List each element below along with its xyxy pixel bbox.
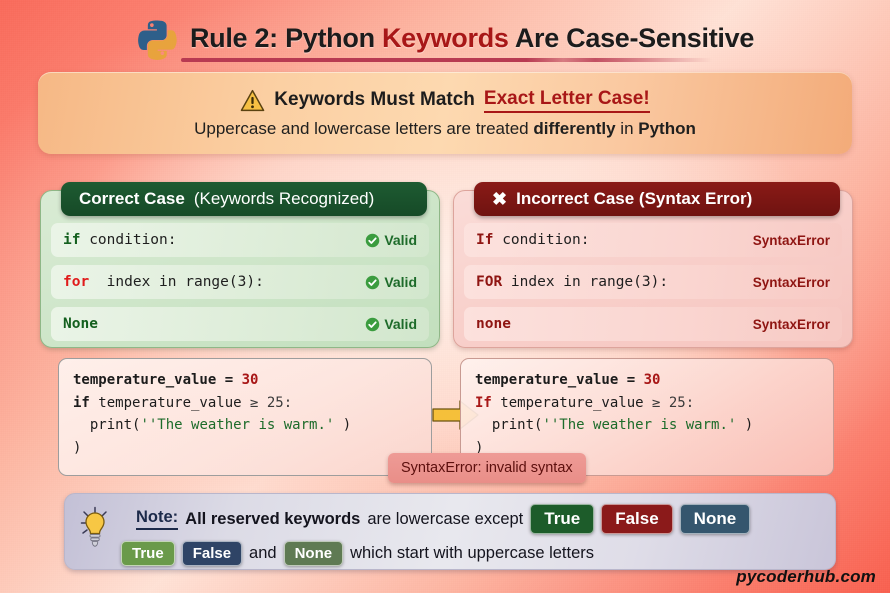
banner-line2-b: differently: [533, 119, 615, 138]
note-line-1: Note: All reserved keywords are lowercas…: [136, 501, 823, 537]
code-line: If temperature_value ≥ 25:: [475, 392, 819, 415]
watermark: pycoderhub.com: [736, 567, 876, 587]
banner-line2-a: Uppercase and lowercase letters are trea…: [194, 119, 533, 138]
keyword-token: FOR: [476, 274, 502, 290]
incorrect-case-panel: ✖ Incorrect Case (Syntax Error) If condi…: [453, 190, 853, 348]
code-paren: ): [736, 417, 753, 433]
status-badge: Valid: [365, 316, 417, 332]
incorrect-case-header: ✖ Incorrect Case (Syntax Error): [474, 182, 840, 216]
table-row: FOR index in range(3): SyntaxError: [464, 265, 842, 299]
status-badge: SyntaxError: [753, 233, 830, 248]
code-paren: ): [334, 417, 351, 433]
title-prefix: Rule 2:: [190, 23, 285, 53]
keyword-token: If: [476, 232, 493, 248]
keyword-token: if: [63, 232, 80, 248]
status-label: Valid: [384, 232, 417, 248]
status-label: SyntaxError: [753, 275, 830, 290]
check-circle-icon: [365, 317, 380, 332]
badge-none-top[interactable]: None: [680, 504, 751, 534]
code-snippet: None: [63, 316, 98, 332]
code-assign: temperature_value =: [475, 372, 644, 388]
banner-line-2: Uppercase and lowercase letters are trea…: [194, 119, 696, 139]
correct-rows: if condition: Valid for index in range(3…: [51, 223, 429, 341]
code-rest: condition:: [493, 232, 589, 248]
infographic-page: Rule 2: Python Keywords Are Case-Sensiti…: [0, 0, 890, 593]
code-rest: index in range(3):: [502, 274, 668, 290]
code-string: ''The weather is warm.': [542, 417, 736, 433]
incorrect-rows: If condition: SyntaxError FOR index in r…: [464, 223, 842, 341]
code-string: ''The weather is warm.': [140, 417, 334, 433]
badge-true-top[interactable]: True: [530, 504, 594, 534]
note-panel: Note: All reserved keywords are lowercas…: [64, 493, 836, 570]
warning-triangle-icon: [240, 89, 265, 112]
x-mark-icon: ✖: [492, 190, 507, 208]
status-badge: Valid: [365, 232, 417, 248]
note-text-1: are lowercase except: [367, 510, 523, 529]
status-badge: SyntaxError: [753, 275, 830, 290]
banner-line2-d: Python: [638, 119, 696, 138]
status-label: SyntaxError: [753, 317, 830, 332]
status-label: SyntaxError: [753, 233, 830, 248]
code-line: temperature_value = 30: [73, 369, 417, 392]
banner-line1-plain: Keywords Must Match: [274, 89, 475, 111]
keyword-token: If: [475, 395, 492, 411]
code-snippet: for index in range(3):: [63, 274, 264, 290]
status-label: Valid: [384, 316, 417, 332]
keyword-token: None: [63, 316, 98, 332]
keyword-token: if: [73, 395, 90, 411]
code-snippet: if condition:: [63, 232, 177, 248]
status-badge: SyntaxError: [753, 317, 830, 332]
code-line: print(''The weather is warm.' ): [475, 414, 819, 437]
correct-header-strong: Correct Case: [79, 189, 185, 209]
table-row: none SyntaxError: [464, 307, 842, 341]
title-keyword: Keywords: [382, 23, 509, 53]
title-text: Rule 2: Python Keywords Are Case-Sensiti…: [190, 23, 754, 54]
code-line: ): [73, 437, 417, 460]
note-line-2: True False and None which start with upp…: [121, 537, 823, 569]
keyword-token: none: [476, 316, 511, 332]
note-text-2: which start with uppercase letters: [350, 544, 594, 563]
code-rest: condition:: [80, 232, 176, 248]
badge-false-bottom[interactable]: False: [182, 541, 242, 566]
status-label: Valid: [384, 274, 417, 290]
code-compare: ≥ 25:: [652, 395, 694, 411]
code-rest: index in range(3):: [89, 274, 264, 290]
code-line: if temperature_value ≥ 25:: [73, 392, 417, 415]
code-assign: temperature_value =: [73, 372, 242, 388]
code-snippet: none: [476, 316, 511, 332]
code-line: print(''The weather is warm.' ): [73, 414, 417, 437]
banner-line1-accent: Exact Letter Case!: [484, 88, 650, 113]
page-title: Rule 2: Python Keywords Are Case-Sensiti…: [0, 16, 890, 60]
incorrect-header-text: Incorrect Case (Syntax Error): [516, 189, 752, 209]
table-row: if condition: Valid: [51, 223, 429, 257]
banner-line-1: Keywords Must Match Exact Letter Case!: [240, 88, 649, 113]
correct-case-header: Correct Case (Keywords Recognized): [61, 182, 427, 216]
title-underline: [181, 58, 712, 62]
code-line: temperature_value = 30: [475, 369, 819, 392]
code-var: temperature_value: [492, 395, 652, 411]
badge-false-top[interactable]: False: [601, 504, 672, 534]
syntax-error-tooltip: SyntaxError: invalid syntax: [388, 453, 586, 483]
code-snippet: FOR index in range(3):: [476, 274, 668, 290]
check-circle-icon: [365, 233, 380, 248]
note-label: Note:: [136, 508, 178, 530]
table-row: None Valid: [51, 307, 429, 341]
status-badge: Valid: [365, 274, 417, 290]
lightbulb-icon: [79, 506, 111, 550]
keyword-token: for: [63, 274, 89, 290]
note-and-word: and: [249, 544, 277, 563]
check-circle-icon: [365, 275, 380, 290]
code-block-correct: temperature_value = 30if temperature_val…: [58, 358, 432, 476]
correct-case-panel: Correct Case (Keywords Recognized) if co…: [40, 190, 440, 348]
table-row: for index in range(3): Valid: [51, 265, 429, 299]
code-snippet: If condition:: [476, 232, 590, 248]
table-row: If condition: SyntaxError: [464, 223, 842, 257]
code-print: print(: [73, 417, 140, 433]
python-logo-icon: [136, 18, 178, 60]
correct-header-light: (Keywords Recognized): [194, 189, 374, 209]
code-number: 30: [644, 372, 661, 388]
title-suffix: Are Case-Sensitive: [509, 23, 754, 53]
note-strong: All reserved keywords: [185, 510, 360, 529]
badge-none-bottom[interactable]: None: [284, 541, 344, 566]
badge-true-bottom[interactable]: True: [121, 541, 175, 566]
banner-line2-c: in: [616, 119, 639, 138]
code-compare: ≥ 25:: [250, 395, 292, 411]
title-mid: Python: [285, 23, 382, 53]
callout-banner: Keywords Must Match Exact Letter Case! U…: [38, 72, 852, 154]
code-var: temperature_value: [90, 395, 250, 411]
code-print: print(: [475, 417, 542, 433]
code-number: 30: [242, 372, 259, 388]
